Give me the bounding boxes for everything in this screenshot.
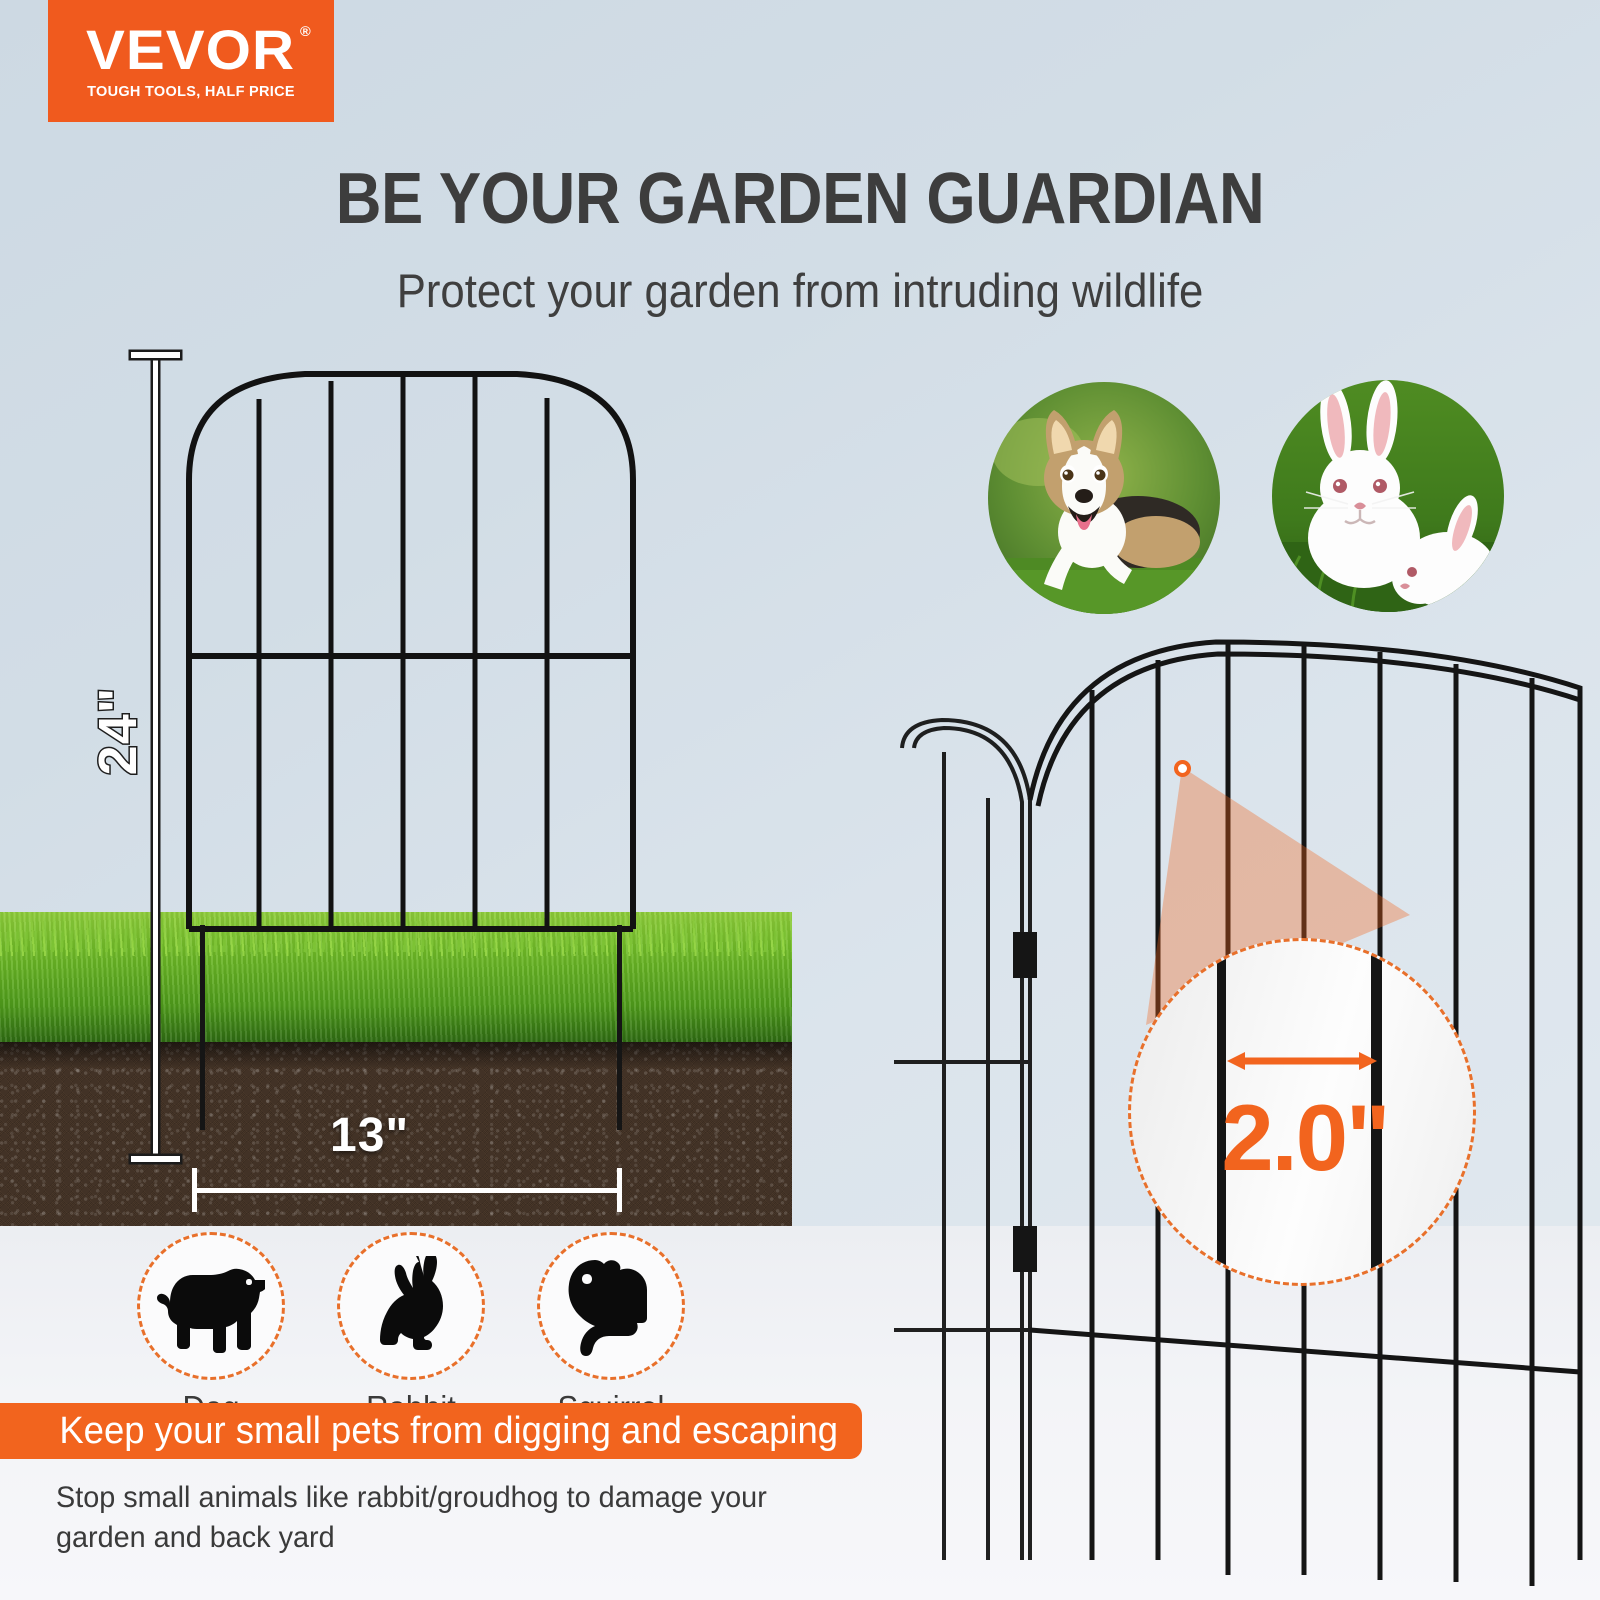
brand-tagline: TOUGH TOOLS, HALF PRICE <box>87 84 295 100</box>
brand-name: VEVOR <box>86 18 295 81</box>
width-dimension-cap-right <box>617 1168 622 1212</box>
dog-silhouette-icon <box>157 1258 265 1354</box>
height-dimension-cap-top <box>131 352 180 358</box>
height-dimension-label: 24" <box>87 671 149 791</box>
width-dimension-line <box>192 1188 622 1193</box>
animal-item-squirrel: Squirrel <box>528 1232 694 1427</box>
animal-item-rabbit: Rabbit <box>328 1232 494 1427</box>
white-rabbits-photo <box>1272 380 1504 612</box>
fence-panel-diagram <box>185 368 637 933</box>
width-dimension-label: 13" <box>330 1108 409 1163</box>
animal-item-dog: Dog <box>128 1232 294 1427</box>
height-dimension-line <box>153 352 158 1162</box>
benefit-banner: Keep your small pets from digging and es… <box>0 1403 862 1459</box>
fence-stake-left <box>200 925 205 1130</box>
footnote-text: Stop small animals like rabbit/groudhog … <box>56 1478 786 1558</box>
product-infographic: VEVOR ® TOUGH TOOLS, HALF PRICE BE YOUR … <box>0 0 1600 1600</box>
fence-panel-svg <box>185 368 637 933</box>
soil-shadow <box>0 1042 792 1068</box>
squirrel-icon-circle <box>537 1232 685 1380</box>
registered-mark: ® <box>300 24 312 38</box>
gap-measure-arrow <box>1227 1049 1377 1073</box>
page-subheadline: Protect your garden from intruding wildl… <box>56 265 1544 317</box>
benefit-banner-text: Keep your small pets from digging and es… <box>17 1410 838 1453</box>
rabbit-icon-circle <box>337 1232 485 1380</box>
zoom-point-marker <box>1174 760 1191 777</box>
fence-stake-right <box>617 925 622 1130</box>
squirrel-silhouette-icon <box>559 1256 663 1356</box>
ground-cross-section <box>0 912 792 1226</box>
width-dimension-cap-left <box>192 1168 197 1212</box>
dog-icon-circle <box>137 1232 285 1380</box>
rabbit-silhouette-icon <box>361 1256 461 1356</box>
brand-wordmark: VEVOR ® <box>86 22 295 78</box>
vevor-logo: VEVOR ® TOUGH TOOLS, HALF PRICE <box>48 0 334 122</box>
gap-dimension-label: 2.0" <box>1131 1091 1476 1185</box>
gap-magnifier-callout: 2.0" <box>1128 938 1476 1286</box>
page-headline: BE YOUR GARDEN GUARDIAN <box>96 163 1504 235</box>
height-dimension-cap-bottom <box>131 1156 180 1162</box>
target-animals-row: Dog Rabbit Squirrel <box>112 1232 752 1402</box>
corgi-dog-photo <box>988 382 1220 614</box>
